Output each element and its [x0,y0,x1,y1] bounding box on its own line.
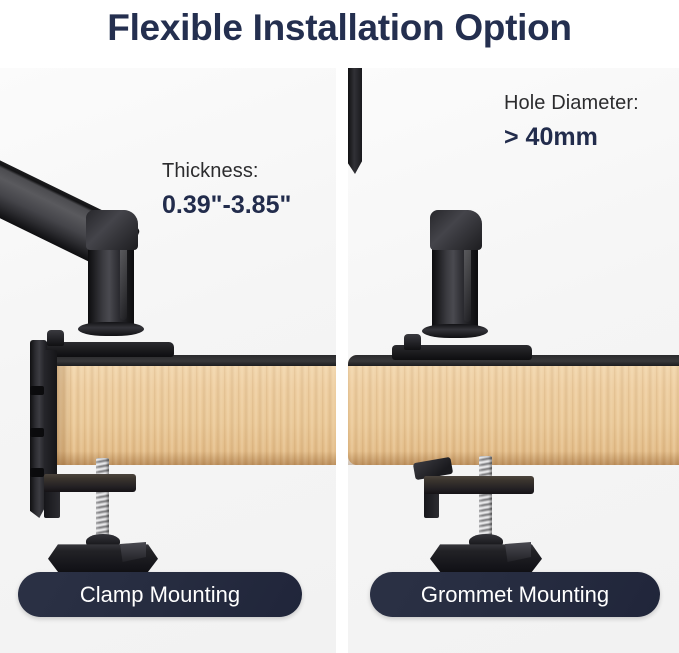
post-collar [78,322,144,336]
desk-edge-shadow [348,451,679,465]
cable-clip-notch [30,386,44,395]
arm-elbow [86,210,138,250]
grommet-bracket-hook [348,68,362,174]
label-clamp-mounting[interactable]: Clamp Mounting [18,572,302,617]
label-grommet-mounting[interactable]: Grommet Mounting [370,572,660,617]
desk-wood-grain [56,355,336,465]
desk-left-face [56,355,72,465]
desk-top-surface [348,355,679,465]
callout-value: 0.39"-3.85" [162,191,291,220]
pill-text: Grommet Mounting [421,582,609,608]
clamp-bracket-arm [44,474,136,492]
post-collar [422,324,488,338]
arm-elbow [430,210,482,250]
adjustment-knob [47,330,64,346]
callout-label: Hole Diameter: [504,92,639,115]
threaded-bolt [479,456,492,544]
adjustment-knob [404,334,421,350]
page-title: Flexible Installation Option [0,2,679,54]
grommet-bracket-arm [424,476,534,494]
callout-hole-diameter: Hole Diameter: > 40mm [504,92,639,152]
callout-value: > 40mm [504,123,639,152]
callout-thickness: Thickness: 0.39"-3.85" [162,160,291,220]
desk-wood-grain [348,355,679,465]
desk-top-surface [56,355,336,465]
threaded-bolt [96,458,109,544]
callout-label: Thickness: [162,160,291,183]
cable-clip-notch [30,428,44,437]
panel-grommet-mounting: Hole Diameter: > 40mm [348,68,679,653]
pill-text: Clamp Mounting [80,582,240,608]
panel-clamp-mounting: Thickness: 0.39"-3.85" [0,68,336,653]
product-feature-image: Flexible Installation Option [0,0,679,653]
cable-clip-notch [30,468,44,477]
